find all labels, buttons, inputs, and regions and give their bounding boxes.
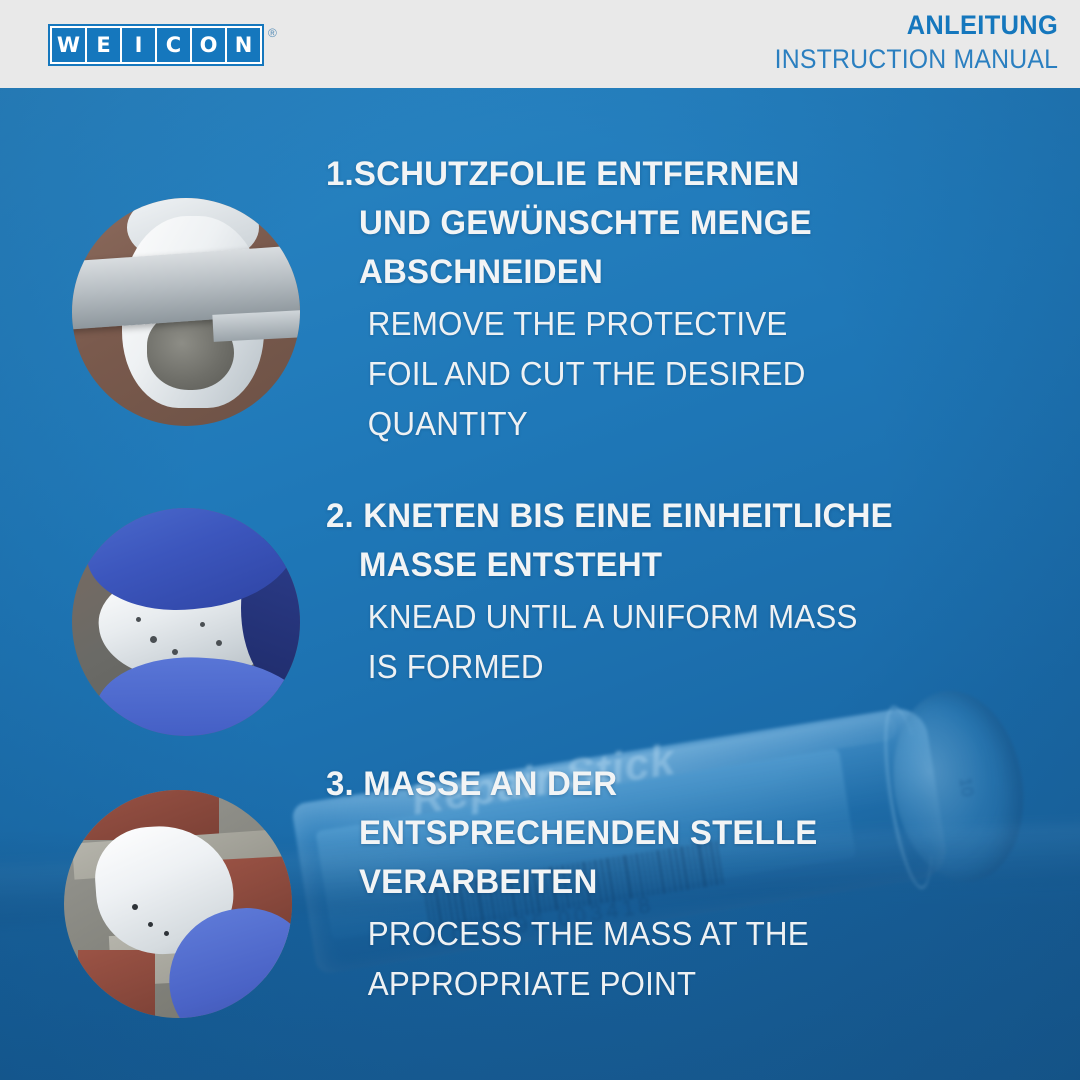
header-title-german: ANLEITUNG	[768, 12, 1058, 39]
step-3-number-separator	[354, 765, 363, 803]
step-2-number: 2.	[326, 497, 354, 535]
step-3-number: 3.	[326, 765, 354, 803]
step-1-text: 1.SCHUTZFOLIE ENTFERNEN UND GEWÜNSCHTE M…	[326, 150, 946, 449]
logo-frame: W E I C O N	[48, 24, 264, 66]
step-2-en-line-1: KNEAD UNTIL A UNIFORM MASS	[326, 592, 991, 642]
logo-letter-w: W	[52, 28, 85, 62]
logo-letter-c: C	[157, 28, 190, 62]
weicon-logo: W E I C O N ®	[48, 24, 277, 66]
step-3-de-text-1: MASSE AN DER	[363, 765, 617, 803]
step-3-de-line-3: VERARBEITEN	[326, 858, 947, 907]
step-1-en-line-1: REMOVE THE PROTECTIVE	[326, 299, 915, 349]
step-3-de-line-1: 3. MASSE AN DER	[326, 760, 947, 809]
logo-letter-n: N	[227, 28, 260, 62]
step-3-text: 3. MASSE AN DER ENTSPRECHENDEN STELLE VE…	[326, 760, 966, 1009]
step-1-de-line-1: 1.SCHUTZFOLIE ENTFERNEN	[326, 150, 927, 199]
logo-letter-i: I	[122, 28, 155, 62]
step-1-en-line-2: FOIL AND CUT THE DESIRED	[326, 349, 915, 399]
step-2-number-separator	[354, 497, 363, 535]
step-2-de-line-2: MASSE ENTSTEHT	[326, 541, 1005, 590]
logo-letter-o: O	[192, 28, 225, 62]
header-titles: ANLEITUNG INSTRUCTION MANUAL	[750, 12, 1058, 73]
step-2-en-line-2: IS FORMED	[326, 642, 991, 692]
logo-letter-e: E	[87, 28, 120, 62]
registered-trademark-icon: ®	[268, 26, 277, 40]
step-3-en-line-1: PROCESS THE MASS AT THE	[326, 909, 934, 959]
header-title-english: INSTRUCTION MANUAL	[775, 46, 1058, 73]
step-1-number: 1.	[326, 155, 354, 193]
step-2-de-text-1: KNETEN BIS EINE EINHEITLICHE	[363, 497, 893, 535]
step-1-photo	[72, 198, 300, 426]
step-2-text: 2. KNETEN BIS EINE EINHEITLICHE MASSE EN…	[326, 492, 1026, 692]
step-1-de-text-1: SCHUTZFOLIE ENTFERNEN	[354, 155, 800, 193]
step-3-en-line-2: APPROPRIATE POINT	[326, 959, 934, 1009]
step-3-photo	[64, 790, 292, 1018]
steps-container: 1.SCHUTZFOLIE ENTFERNEN UND GEWÜNSCHTE M…	[0, 88, 1080, 1080]
instruction-manual-page: Repair Stick 4 024596 003418 10 W E I C …	[0, 0, 1080, 1080]
step-2-photo	[72, 508, 300, 736]
step-1-de-line-2: UND GEWÜNSCHTE MENGE	[326, 199, 927, 248]
step-2-de-line-1: 2. KNETEN BIS EINE EINHEITLICHE	[326, 492, 1005, 541]
page-header: W E I C O N ® ANLEITUNG INSTRUCTION MANU…	[0, 0, 1080, 88]
step-1-de-line-3: ABSCHNEIDEN	[326, 248, 927, 297]
step-3-de-line-2: ENTSPRECHENDEN STELLE	[326, 809, 947, 858]
step-1-en-line-3: QUANTITY	[326, 399, 915, 449]
